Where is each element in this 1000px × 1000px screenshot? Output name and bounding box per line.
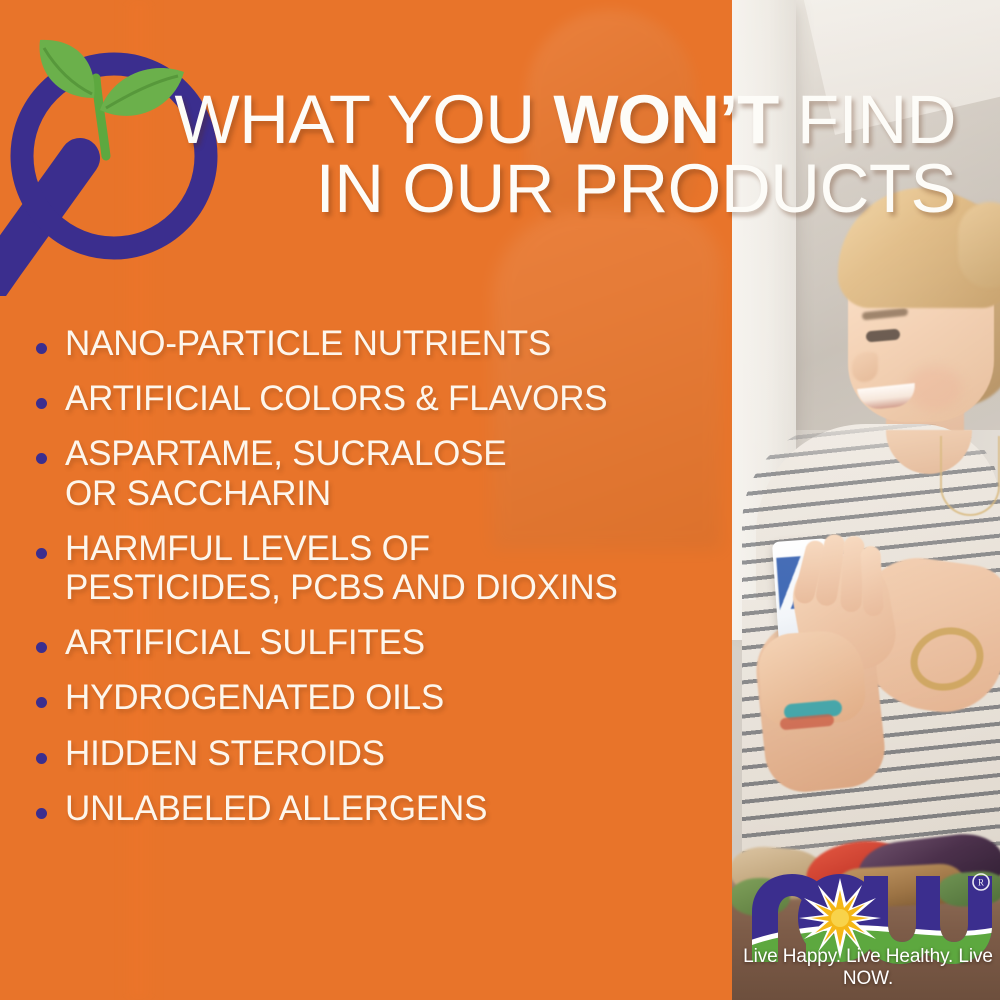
list-item: HYDROGENATED OILS [36, 678, 736, 717]
bullet-dot [36, 548, 47, 559]
list-item: UNLABELED ALLERGENS [36, 789, 736, 828]
necklace [940, 436, 1000, 516]
list-item-label: HARMFUL LEVELS OF PESTICIDES, PCBS AND D… [65, 529, 618, 607]
list-item-label: HIDDEN STEROIDS [65, 734, 385, 773]
list-item: ARTIFICIAL SULFITES [36, 623, 736, 662]
svg-text:R: R [978, 878, 984, 888]
finger [860, 546, 884, 617]
list-item: HARMFUL LEVELS OF PESTICIDES, PCBS AND D… [36, 529, 736, 607]
bullet-dot [36, 808, 47, 819]
list-item-label: ARTIFICIAL COLORS & FLAVORS [65, 379, 607, 418]
list-item: HIDDEN STEROIDS [36, 734, 736, 773]
headline-emphasis: WON’T [553, 81, 778, 158]
list-item: ASPARTAME, SUCRALOSE OR SACCHARIN [36, 434, 736, 512]
headline-prefix: WHAT YOU [175, 81, 554, 158]
bullet-dot [36, 697, 47, 708]
headline-suffix: FIND [778, 81, 956, 158]
headline-line-2: IN OUR PRODUCTS [0, 157, 956, 220]
bullet-dot [36, 343, 47, 354]
list-item-label: NANO-PARTICLE NUTRIENTS [65, 324, 551, 363]
list-item: ARTIFICIAL COLORS & FLAVORS [36, 379, 736, 418]
bullet-dot [36, 753, 47, 764]
promo-graphic: WHAT YOU WON’T FIND IN OUR PRODUCTS NANO… [0, 0, 1000, 1000]
list-item-label: HYDROGENATED OILS [65, 678, 444, 717]
bullet-dot [36, 398, 47, 409]
nose [852, 352, 878, 382]
bullet-dot [36, 453, 47, 464]
list-item: NANO-PARTICLE NUTRIENTS [36, 324, 736, 363]
brand-tagline: Live Happy. Live Healthy. Live NOW. [742, 946, 994, 990]
bullet-dot [36, 642, 47, 653]
headline-line-1: WHAT YOU WON’T FIND [0, 88, 956, 151]
list-item-label: ARTIFICIAL SULFITES [65, 623, 425, 662]
excluded-ingredients-list: NANO-PARTICLE NUTRIENTS ARTIFICIAL COLOR… [36, 324, 736, 844]
list-item-label: ASPARTAME, SUCRALOSE OR SACCHARIN [65, 434, 506, 512]
headline: WHAT YOU WON’T FIND IN OUR PRODUCTS [0, 88, 1000, 221]
list-item-label: UNLABELED ALLERGENS [65, 789, 487, 828]
